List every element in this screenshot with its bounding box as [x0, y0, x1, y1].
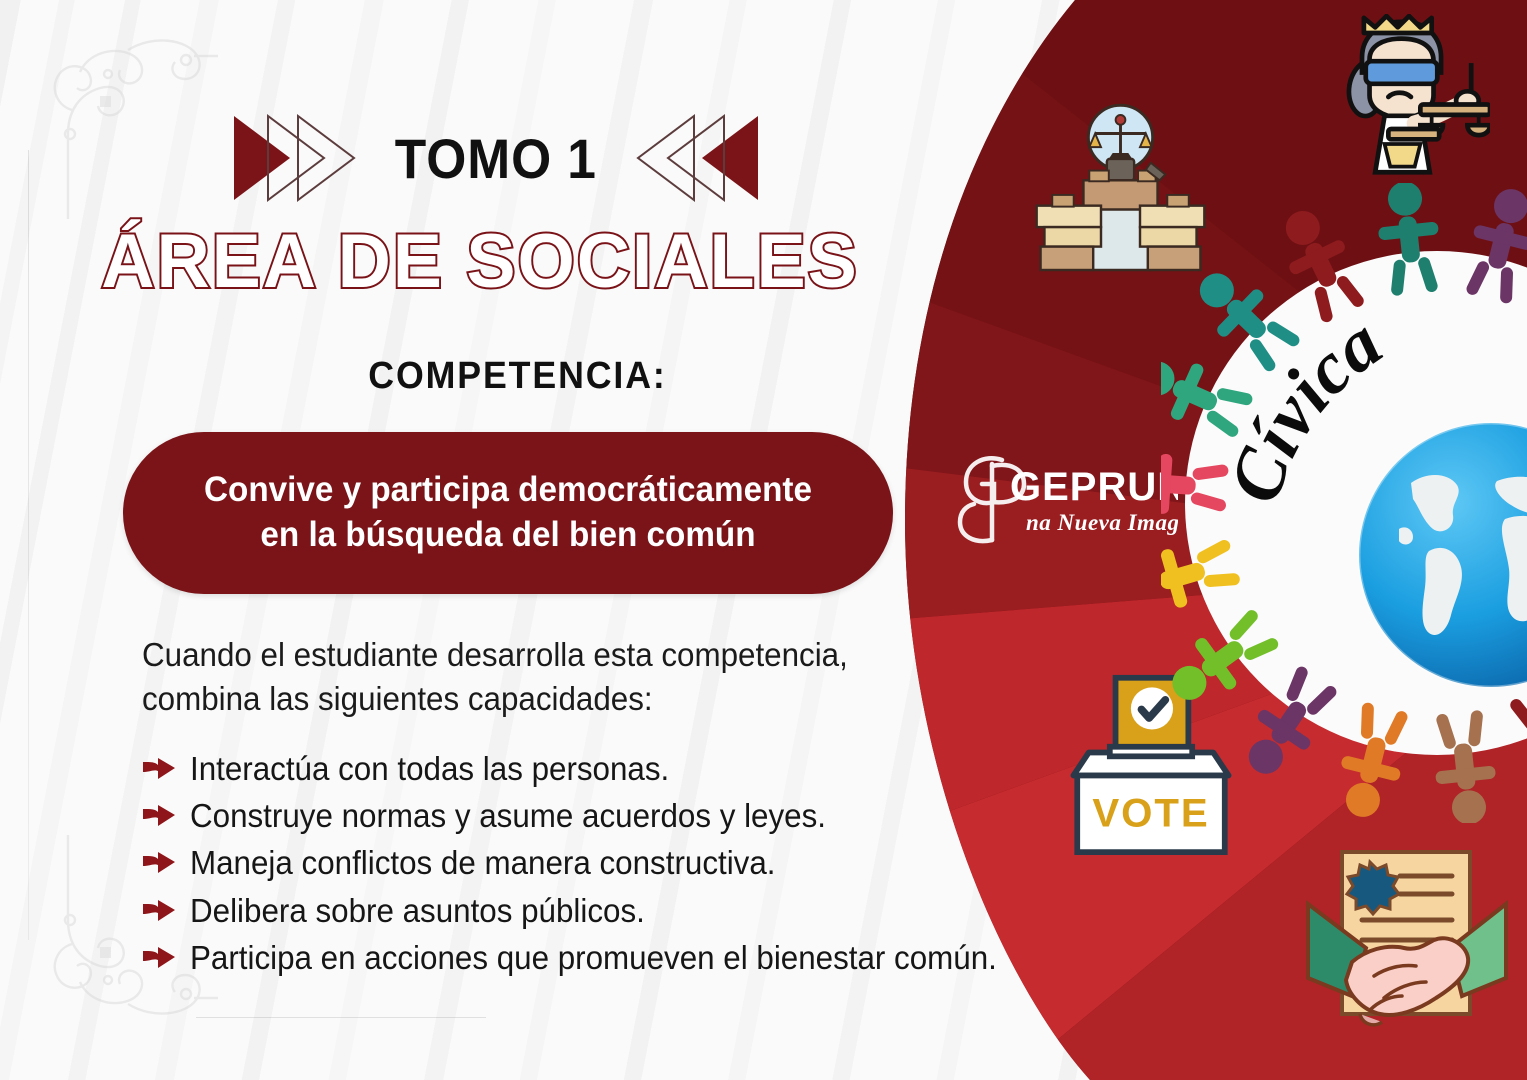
- arrow-bullet-icon: [142, 850, 176, 876]
- content-column: TOMO 1 ÁREA DE SOCIALES COMPETENCIA: Con…: [0, 0, 960, 1080]
- capability-label: Participa en acciones que promueven el b…: [190, 937, 997, 979]
- competencia-text: Convive y participa democráticamente en …: [181, 468, 835, 558]
- intro-paragraph: Cuando el estudiante desarrolla esta com…: [142, 633, 893, 721]
- arrow-bullet-icon: [142, 803, 176, 829]
- list-item: Maneja conflictos de manera constructiva…: [142, 842, 1092, 884]
- competencia-line-1: Convive y participa democráticamente: [204, 470, 812, 509]
- list-item: Delibera sobre asuntos públicos.: [142, 890, 1092, 932]
- competencia-pill: Convive y participa democráticamente en …: [123, 432, 893, 594]
- competencia-heading: COMPETENCIA:: [31, 355, 1004, 398]
- page-title: ÁREA DE SOCIALES: [14, 218, 945, 305]
- capability-label: Interactúa con todas las personas.: [190, 748, 669, 790]
- capability-label: Delibera sobre asuntos públicos.: [190, 890, 645, 932]
- poster-canvas: TOMO 1 ÁREA DE SOCIALES COMPETENCIA: Con…: [0, 0, 1527, 1080]
- list-item: Construye normas y asume acuerdos y leye…: [142, 795, 1092, 837]
- geprunsa-logo: GEPRUNSA na Nueva Imagen: [948, 444, 1178, 548]
- capability-label: Maneja conflictos de manera constructiva…: [190, 842, 775, 884]
- intro-line-1: Cuando el estudiante desarrolla esta com…: [142, 636, 848, 673]
- competencia-line-2: en la búsqueda del bien común: [260, 515, 755, 554]
- intro-line-2: combina las siguientes capacidades:: [142, 680, 653, 717]
- chevrons-left-icon: [632, 112, 760, 204]
- volume-header: TOMO 1: [232, 112, 760, 204]
- capabilities-list: Interactúa con todas las personas. Const…: [142, 748, 1092, 984]
- logo-tagline: na Nueva Imagen: [1026, 510, 1178, 535]
- list-item: Interactúa con todas las personas.: [142, 748, 1092, 790]
- arrow-bullet-icon: [142, 945, 176, 971]
- list-item: Participa en acciones que promueven el b…: [142, 937, 1092, 979]
- arrow-bullet-icon: [142, 898, 176, 924]
- volume-label: TOMO 1: [395, 126, 597, 191]
- arrow-bullet-icon: [142, 756, 176, 782]
- capability-label: Construye normas y asume acuerdos y leye…: [190, 795, 826, 837]
- logo-wordmark: GEPRUNSA: [1010, 465, 1178, 509]
- chevrons-right-icon: [232, 112, 360, 204]
